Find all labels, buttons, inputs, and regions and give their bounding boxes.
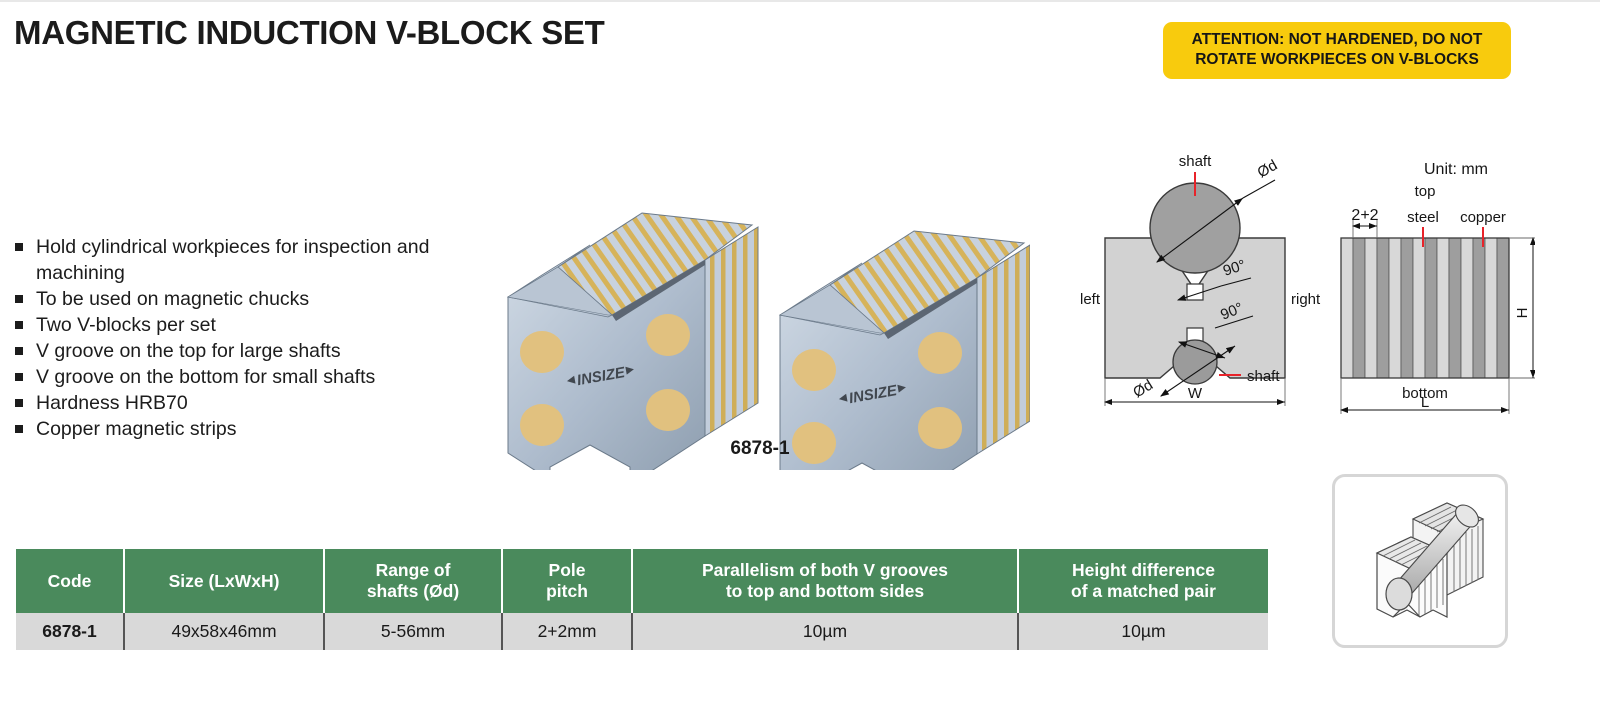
square-bullet-icon	[15, 373, 23, 381]
feature-text: Two V-blocks per set	[36, 314, 216, 336]
product-caption: 6878-1	[490, 438, 1030, 460]
front-shaft-top-label: shaft	[1179, 153, 1212, 170]
side-length-label: L	[1421, 394, 1429, 411]
side-top-label: top	[1415, 183, 1436, 200]
side-copper-label: copper	[1460, 209, 1506, 226]
column-header-range-of-shafts: Range of shafts (Ød)	[324, 549, 502, 613]
square-bullet-icon	[15, 243, 23, 251]
table-row: 6878-1 49x58x46mm 5-56mm 2+2mm 10µm 10µm	[16, 613, 1268, 650]
square-bullet-icon	[15, 347, 23, 355]
side-pole-pitch-label: 2+2	[1351, 207, 1378, 224]
v-block-photo-right: INSIZE	[780, 231, 1030, 470]
technical-drawings: shaft Ød 90° 90° Ød shaft left right	[1075, 150, 1535, 415]
list-item: Hold cylindrical workpieces for inspecti…	[12, 234, 432, 286]
attention-line-1: ATTENTION: NOT HARDENED, DO NOT	[1173, 30, 1501, 50]
side-height-label: H	[1514, 308, 1531, 319]
cell-height-difference: 10µm	[1018, 613, 1268, 650]
front-width-label: W	[1188, 385, 1203, 402]
list-item: Copper magnetic strips	[12, 416, 432, 442]
cell-pole-pitch: 2+2mm	[502, 613, 632, 650]
front-left-label: left	[1080, 291, 1101, 308]
feature-text: V groove on the bottom for small shafts	[36, 366, 375, 388]
cell-range-of-shafts: 5-56mm	[324, 613, 502, 650]
v-blocks-with-shaft-icon	[1335, 477, 1505, 645]
list-item: Hardness HRB70	[12, 390, 432, 416]
side-steel-label: steel	[1407, 209, 1439, 226]
feature-text: Hold cylindrical workpieces for inspecti…	[36, 236, 429, 284]
square-bullet-icon	[15, 295, 23, 303]
square-bullet-icon	[15, 425, 23, 433]
attention-line-2: ROTATE WORKPIECES ON V-BLOCKS	[1173, 50, 1501, 70]
feature-list: Hold cylindrical workpieces for inspecti…	[12, 234, 432, 442]
column-header-code: Code	[16, 549, 124, 613]
attention-badge: ATTENTION: NOT HARDENED, DO NOT ROTATE W…	[1163, 22, 1511, 79]
list-item: V groove on the bottom for small shafts	[12, 364, 432, 390]
cell-parallelism: 10µm	[632, 613, 1018, 650]
feature-text: V groove on the top for large shafts	[36, 340, 341, 362]
cell-code: 6878-1	[16, 613, 124, 650]
column-header-pole-pitch: Pole pitch	[502, 549, 632, 613]
product-photo-group: INSIZE INSIZE	[490, 205, 1030, 470]
feature-text: To be used on magnetic chucks	[36, 288, 309, 310]
v-block-photo-left: INSIZE	[508, 213, 758, 470]
table-header-row: Code Size (LxWxH) Range of shafts (Ød) P…	[16, 549, 1268, 613]
feature-text: Hardness HRB70	[36, 392, 188, 414]
list-item: Two V-blocks per set	[12, 312, 432, 338]
column-header-size: Size (LxWxH)	[124, 549, 324, 613]
front-right-label: right	[1291, 291, 1321, 308]
specification-table: Code Size (LxWxH) Range of shafts (Ød) P…	[16, 549, 1268, 650]
feature-text: Copper magnetic strips	[36, 418, 237, 440]
side-view-drawing: top 2+2 steel copper H bottom L	[1341, 183, 1535, 414]
front-view-drawing: shaft Ød 90° 90° Ød shaft left right	[1080, 153, 1321, 406]
square-bullet-icon	[15, 399, 23, 407]
application-illustration-box	[1332, 474, 1508, 648]
front-shaft-bottom-label: shaft	[1247, 368, 1280, 385]
square-bullet-icon	[15, 321, 23, 329]
lamination-stack	[1341, 238, 1509, 378]
column-header-parallelism: Parallelism of both V grooves to top and…	[632, 549, 1018, 613]
list-item: V groove on the top for large shafts	[12, 338, 432, 364]
front-diameter-top-label: Ød	[1255, 157, 1281, 182]
column-header-height-difference: Height difference of a matched pair	[1018, 549, 1268, 613]
front-diameter-bottom-label: Ød	[1130, 376, 1156, 401]
page-top-rule	[0, 0, 1600, 2]
cell-size: 49x58x46mm	[124, 613, 324, 650]
page-title: MAGNETIC INDUCTION V-BLOCK SET	[14, 14, 605, 52]
list-item: To be used on magnetic chucks	[12, 286, 432, 312]
